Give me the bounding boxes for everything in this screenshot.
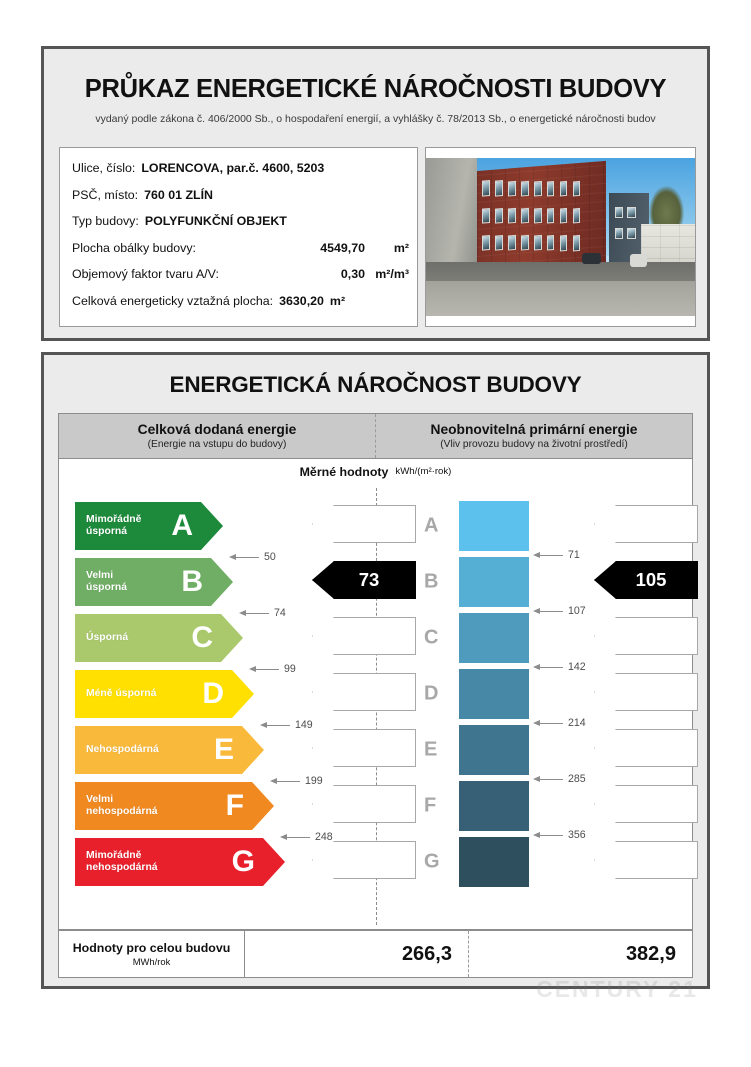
- primary-scale-bar-6: [459, 781, 529, 831]
- result-arrow-e: [312, 729, 416, 767]
- result-arrow-g: [594, 841, 698, 879]
- info-row: PSČ, místo:760 01 ZLÍN: [72, 188, 417, 215]
- energy-class-letter: E: [214, 735, 234, 765]
- energy-class-row: NehospodárnáE199: [75, 722, 310, 778]
- primary-scale-row: 142: [459, 610, 594, 666]
- primary-scale-row: 107: [459, 554, 594, 610]
- result-arrow-e: [594, 729, 698, 767]
- energy-class-name: Úsporná: [86, 632, 128, 644]
- result-arrow-active-b: 105: [594, 561, 698, 599]
- energy-class-letter: A: [171, 511, 193, 541]
- photo-parking-lot: [426, 262, 695, 281]
- column-header-primary-title: Neobnovitelná primární energie: [430, 422, 637, 437]
- primary-scale-row: 285: [459, 722, 594, 778]
- result-row: [594, 610, 729, 666]
- header-panel: PRŮKAZ ENERGETICKÉ NÁROČNOSTI BUDOVY vyd…: [41, 46, 710, 341]
- result-class-letter: E: [424, 739, 437, 762]
- energy-class-name: Velmi úsporná: [86, 570, 127, 594]
- energy-class-row: Velmi nehospodárnáF248: [75, 778, 310, 834]
- result-arrow-d: [594, 673, 698, 711]
- unit-row-label: Měrné hodnoty: [300, 465, 389, 479]
- energy-class-name: Nehospodárná: [86, 744, 159, 756]
- result-row: [594, 498, 729, 554]
- energy-class-name: Mimořádně úsporná: [86, 514, 141, 538]
- primary-scale-bar-5: [459, 725, 529, 775]
- energy-class-bands: Mimořádně úspornáA50Velmi úspornáB74Úspo…: [75, 498, 310, 890]
- info-row-value: POLYFUNKČNÍ OBJEKT: [145, 214, 287, 228]
- info-row-unit: m²: [394, 241, 409, 255]
- building-info-box: Ulice, číslo:LORENCOVA, par.č. 4600, 520…: [59, 147, 418, 327]
- result-row: F: [312, 778, 447, 834]
- primary-scale-bar-4: [459, 669, 529, 719]
- primary-energy-results: 105: [594, 498, 729, 890]
- column-header-primary: Neobnovitelná primární energie (Vliv pro…: [376, 414, 692, 458]
- primary-scale-row: 214: [459, 666, 594, 722]
- result-row: [594, 834, 729, 890]
- energy-class-row: Mimořádně nehospodárnáG: [75, 834, 310, 890]
- energy-class-band-e: NehospodárnáE: [75, 726, 264, 774]
- energy-scale-area: Mimořádně úspornáA50Velmi úspornáB74Úspo…: [58, 484, 693, 930]
- info-row-label: Typ budovy:: [72, 214, 139, 228]
- result-arrow-a: [594, 505, 698, 543]
- energy-class-row: Velmi úspornáB74: [75, 554, 310, 610]
- result-arrow-c: [594, 617, 698, 655]
- result-class-letter: B: [424, 571, 438, 594]
- info-row: Objemový faktor tvaru A/V:0,30m²/m³: [72, 267, 417, 294]
- info-row-value: 760 01 ZLÍN: [144, 188, 213, 202]
- result-row: [594, 778, 729, 834]
- info-row: Ulice, číslo:LORENCOVA, par.č. 4600, 520…: [72, 161, 417, 188]
- result-value: 73: [359, 569, 380, 591]
- result-arrow-a: [312, 505, 416, 543]
- result-value: 105: [636, 569, 667, 591]
- total-primary-value: 382,9: [469, 931, 692, 977]
- result-class-letter: A: [424, 515, 438, 538]
- info-row-label: Objemový faktor tvaru A/V:: [72, 267, 219, 281]
- result-class-letter: F: [424, 795, 436, 818]
- page-title: PRŮKAZ ENERGETICKÉ NÁROČNOSTI BUDOVY: [44, 75, 707, 104]
- info-row-value: 3630,20: [279, 294, 324, 308]
- energy-class-name: Mimořádně nehospodárná: [86, 850, 158, 874]
- info-row: Celková energeticky vztažná plocha:3630,…: [72, 294, 417, 321]
- total-label-main: Hodnoty pro celou budovu: [73, 941, 231, 955]
- result-row: 105: [594, 554, 729, 610]
- info-row: Typ budovy:POLYFUNKČNÍ OBJEKT: [72, 214, 417, 241]
- photo-van: [630, 254, 646, 267]
- primary-scale-row: 71: [459, 498, 594, 554]
- energy-class-band-f: Velmi nehospodárnáF: [75, 782, 274, 830]
- energy-class-letter: G: [232, 847, 255, 877]
- result-arrow-active-b: 73: [312, 561, 416, 599]
- building-photo: [426, 158, 695, 316]
- column-headers: Celková dodaná energie (Energie na vstup…: [58, 413, 693, 459]
- result-arrow-d: [312, 673, 416, 711]
- delivered-energy-results: A73BCDEFG: [312, 498, 447, 890]
- energy-class-band-a: Mimořádně úspornáA: [75, 502, 223, 550]
- whole-building-total-row: Hodnoty pro celou budovu MWh/rok 266,3 3…: [58, 930, 693, 978]
- energy-class-name: Velmi nehospodárná: [86, 794, 158, 818]
- energy-class-row: Mimořádně úspornáA50: [75, 498, 310, 554]
- result-class-letter: C: [424, 627, 438, 650]
- energy-class-letter: D: [202, 679, 224, 709]
- result-row: G: [312, 834, 447, 890]
- info-row-unit: m²: [330, 294, 345, 308]
- info-row-value: 4549,70: [320, 241, 365, 255]
- info-row-label: Celková energeticky vztažná plocha:: [72, 294, 273, 308]
- column-header-primary-subtitle: (Vliv provozu budovy na životní prostřed…: [440, 439, 627, 450]
- result-row: 73B: [312, 554, 447, 610]
- total-delivered-value: 266,3: [245, 931, 469, 977]
- info-row-value: 0,30: [341, 267, 365, 281]
- result-row: D: [312, 666, 447, 722]
- energy-class-letter: C: [191, 623, 213, 653]
- photo-car: [582, 253, 601, 264]
- energy-class-letter: B: [181, 567, 203, 597]
- total-label-unit: MWh/rok: [133, 956, 171, 967]
- primary-energy-scale-bars: 71107142214285356: [459, 498, 594, 890]
- energy-class-letter: F: [226, 791, 244, 821]
- primary-scale-bar-2: [459, 557, 529, 607]
- primary-scale-bar-7: [459, 837, 529, 887]
- info-row: Plocha obálky budovy:4549,70m²: [72, 241, 417, 268]
- result-row: [594, 722, 729, 778]
- energy-class-band-g: Mimořádně nehospodárnáG: [75, 838, 285, 886]
- energy-class-row: Méně úspornáD149: [75, 666, 310, 722]
- column-header-delivered: Celková dodaná energie (Energie na vstup…: [59, 414, 376, 458]
- unit-row-unit: kWh/(m²·rok): [395, 466, 451, 477]
- result-arrow-f: [312, 785, 416, 823]
- result-class-letter: G: [424, 851, 440, 874]
- energy-section-title: ENERGETICKÁ NÁROČNOST BUDOVY: [44, 372, 707, 398]
- energy-class-band-b: Velmi úspornáB: [75, 558, 233, 606]
- primary-scale-bar-3: [459, 613, 529, 663]
- info-row-value: LORENCOVA, par.č. 4600, 5203: [141, 161, 324, 175]
- result-row: A: [312, 498, 447, 554]
- building-photo-frame: [425, 147, 696, 327]
- total-label: Hodnoty pro celou budovu MWh/rok: [59, 931, 245, 977]
- column-header-delivered-title: Celková dodaná energie: [138, 422, 297, 437]
- result-arrow-f: [594, 785, 698, 823]
- result-row: E: [312, 722, 447, 778]
- info-row-label: PSČ, místo:: [72, 188, 138, 202]
- result-class-letter: D: [424, 683, 438, 706]
- info-row-unit: m²/m³: [375, 267, 409, 281]
- unit-row: Měrné hodnoty kWh/(m²·rok): [58, 459, 693, 484]
- page-subtitle: vydaný podle zákona č. 406/2000 Sb., o h…: [44, 113, 707, 125]
- energy-class-band-d: Méně úspornáD: [75, 670, 254, 718]
- info-row-label: Ulice, číslo:: [72, 161, 135, 175]
- primary-scale-row: 356: [459, 778, 594, 834]
- result-row: C: [312, 610, 447, 666]
- penb-document: PRŮKAZ ENERGETICKÉ NÁROČNOSTI BUDOVY vyd…: [0, 0, 751, 1067]
- primary-scale-row: [459, 834, 594, 890]
- energy-class-band-c: ÚspornáC: [75, 614, 243, 662]
- info-row-label: Plocha obálky budovy:: [72, 241, 196, 255]
- primary-scale-bar-1: [459, 501, 529, 551]
- result-row: [594, 666, 729, 722]
- result-arrow-c: [312, 617, 416, 655]
- energy-class-name: Méně úsporná: [86, 688, 156, 700]
- result-arrow-g: [312, 841, 416, 879]
- energy-class-row: ÚspornáC99: [75, 610, 310, 666]
- energy-performance-panel: ENERGETICKÁ NÁROČNOST BUDOVY Celková dod…: [41, 352, 710, 989]
- column-header-delivered-subtitle: (Energie na vstupu do budovy): [148, 439, 287, 450]
